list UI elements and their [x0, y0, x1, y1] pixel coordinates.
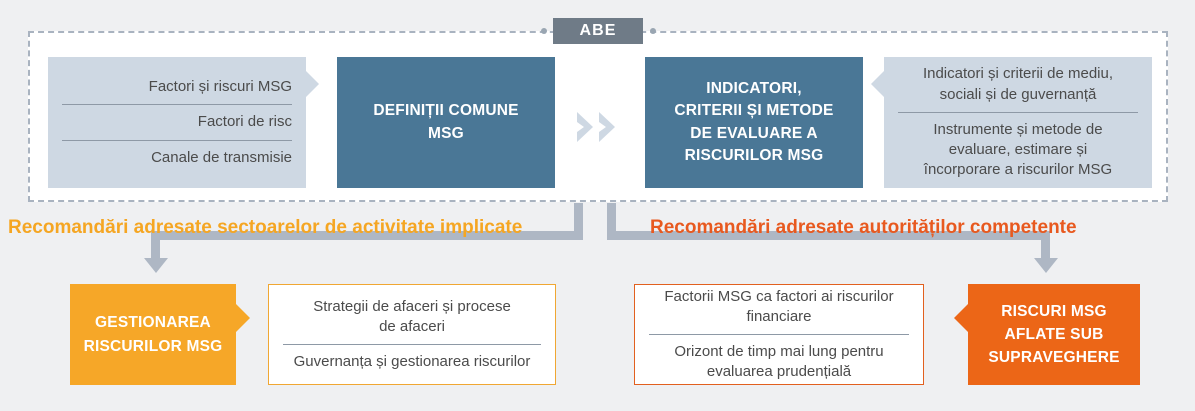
- list-item: Factori de risc: [62, 104, 292, 139]
- msg-risks-under-supervision-box: RISCURI MSGAFLATE SUBSUPRAVEGHERE: [968, 284, 1140, 385]
- list-item: Indicatori și criterii de mediu,sociali …: [898, 57, 1138, 112]
- msg-factors-list-box: Factori și riscuri MSG Factori de risc C…: [48, 57, 306, 188]
- msg-factors-list: Factori și riscuri MSG Factori de risc C…: [48, 57, 306, 188]
- abe-title-label: ABE: [579, 22, 616, 40]
- connector-left-arrowhead-icon: [144, 258, 168, 273]
- list-item: Factori și riscuri MSG: [62, 70, 292, 104]
- arrow-tab-right-amber-icon: [236, 304, 250, 332]
- list-item: Strategii de afaceri și procesede afacer…: [283, 290, 541, 345]
- list-item: Guvernanța și gestionarea riscurilor: [283, 344, 541, 379]
- list-item: Orizont de timp mai lung pentruevaluarea…: [649, 334, 909, 390]
- business-strategy-card: Strategii de afaceri și procesede afacer…: [268, 284, 556, 385]
- double-chevron-right-icon: [575, 108, 627, 146]
- business-strategy-list: Strategii de afaceri și procesede afacer…: [269, 285, 555, 384]
- connector-right-arrowhead-icon: [1034, 258, 1058, 273]
- list-item: Factorii MSG ca factori ai riscurilorfin…: [649, 280, 909, 335]
- arrow-tab-left-icon: [871, 71, 884, 97]
- abe-title-chip: ABE: [553, 18, 643, 44]
- heading-sectors-recommendations: Recomandări adresate sectoarelor de acti…: [8, 217, 522, 239]
- diagram-canvas: ABE Factori și riscuri MSG Factori de ri…: [0, 0, 1195, 411]
- chip-connector-dot-left: [541, 28, 547, 34]
- indicators-criteria-methods-box: INDICATORI,CRITERII ȘI METODEDE EVALUARE…: [645, 57, 863, 188]
- heading-authorities-recommendations: Recomandări adresate autorităților compe…: [650, 217, 1077, 239]
- indicators-criteria-methods-title: INDICATORI,CRITERII ȘI METODEDE EVALUARE…: [674, 78, 833, 168]
- arrow-tab-left-red-icon: [954, 304, 968, 332]
- list-item: Instrumente și metode deevaluare, estima…: [898, 112, 1138, 188]
- msg-financial-risk-card: Factorii MSG ca factori ai riscurilorfin…: [634, 284, 924, 385]
- common-definitions-title: DEFINIȚII COMUNEMSG: [373, 100, 518, 145]
- chip-connector-dot-right: [650, 28, 656, 34]
- msg-risks-under-supervision-title: RISCURI MSGAFLATE SUBSUPRAVEGHERE: [988, 300, 1119, 370]
- msg-risk-management-box: GESTIONAREARISCURILOR MSG: [70, 284, 236, 385]
- list-item: Canale de transmisie: [62, 140, 292, 175]
- esg-indicators-tools-list: Indicatori și criterii de mediu,sociali …: [884, 57, 1152, 188]
- esg-indicators-tools-box: Indicatori și criterii de mediu,sociali …: [884, 57, 1152, 188]
- msg-financial-risk-list: Factorii MSG ca factori ai riscurilorfin…: [635, 285, 923, 384]
- arrow-tab-right-icon: [306, 71, 319, 97]
- msg-risk-management-title: GESTIONAREARISCURILOR MSG: [84, 311, 223, 358]
- common-definitions-box: DEFINIȚII COMUNEMSG: [337, 57, 555, 188]
